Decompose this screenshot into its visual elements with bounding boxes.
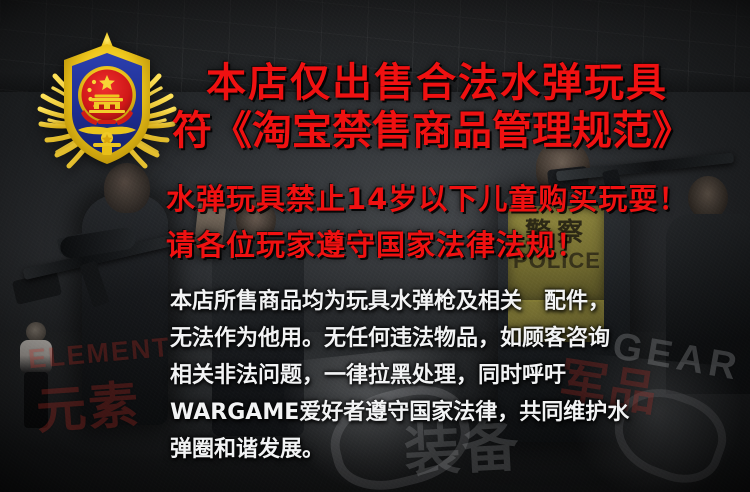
headline-line-2: 符《淘宝禁售商品管理规范》 bbox=[172, 98, 692, 156]
warning-line-1: 水弹玩具禁止14岁以下儿童购买玩耍！ bbox=[166, 176, 688, 218]
disclaimer-paragraph: 本店所售商品均为玩具水弹枪及相关 配件， 无法作为他用。无任何违法物品，如顾客咨… bbox=[170, 283, 690, 468]
disclaimer-line-4: WARGAME爱好者遵守国家法律，共同维护水 bbox=[170, 394, 690, 431]
disclaimer-line-5: 弹圈和谐发展。 bbox=[170, 431, 690, 468]
warning-line-2: 请各位玩家遵守国家法律法规！ bbox=[166, 222, 586, 264]
disclaimer-line-3: 相关非法问题，一律拉黑处理，同时呼吁 bbox=[170, 357, 690, 394]
disclaimer-line-2: 无法作为他用。无任何违法物品，如顾客咨询 bbox=[170, 320, 690, 357]
disclaimer-line-1: 本店所售商品均为玩具水弹枪及相关 配件， bbox=[170, 283, 690, 320]
chinese-police-badge-icon bbox=[28, 22, 186, 182]
promo-banner: 警察 POLICE ELEMENT 元素 军品 GEAR 装备 bbox=[0, 0, 750, 492]
